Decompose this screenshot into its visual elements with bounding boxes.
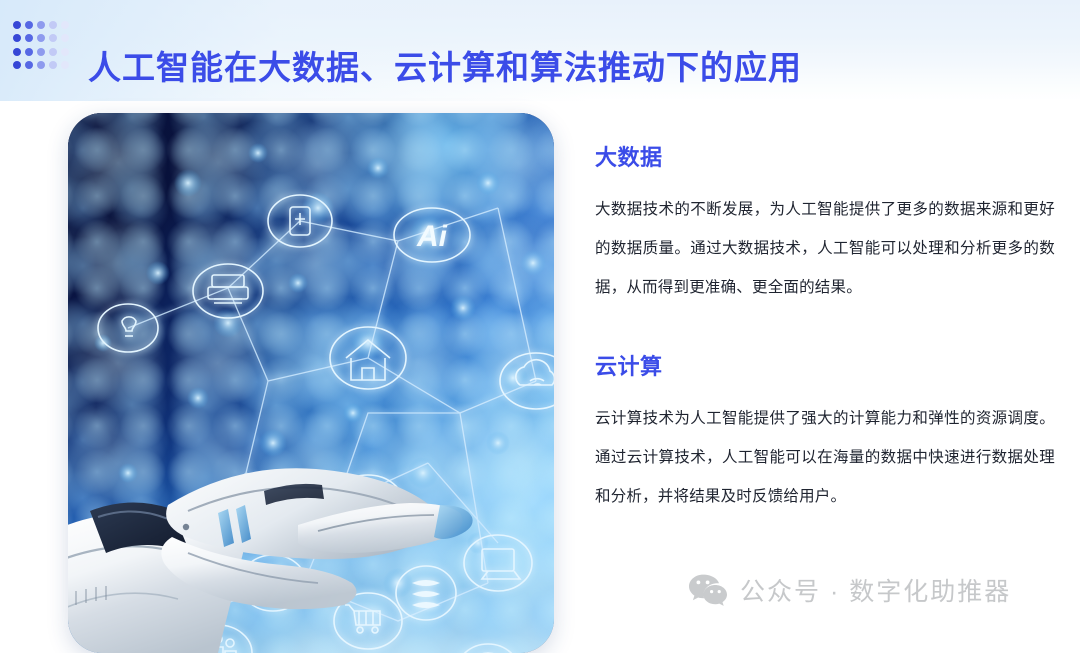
robot-hand-graphic (68, 113, 554, 653)
watermark: 公众号 · 数字化助推器 (688, 572, 1011, 608)
section-body: 大数据技术的不断发展，为人工智能提供了更多的数据来源和更好的数据质量。通过大数据… (595, 190, 1055, 307)
section-big-data: 大数据 大数据技术的不断发展，为人工智能提供了更多的数据来源和更好的数据质量。通… (595, 140, 1055, 307)
page-title: 人工智能在大数据、云计算和算法推动下的应用 (88, 45, 802, 91)
illustration-image: Ai 4.0 (68, 113, 554, 653)
section-cloud-computing: 云计算 云计算技术为人工智能提供了强大的计算能力和弹性的资源调度。通过云计算技术… (595, 349, 1055, 516)
section-title: 云计算 (595, 349, 1055, 381)
dot-grid-icon (12, 19, 70, 71)
wechat-icon (688, 573, 728, 607)
watermark-text: 公众号 · 数字化助推器 (740, 572, 1011, 608)
content-column: 大数据 大数据技术的不断发展，为人工智能提供了更多的数据来源和更好的数据质量。通… (595, 140, 1055, 516)
section-body: 云计算技术为人工智能提供了强大的计算能力和弹性的资源调度。通过云计算技术，人工智… (595, 399, 1055, 516)
page-header: 人工智能在大数据、云计算和算法推动下的应用 (0, 0, 1080, 101)
section-title: 大数据 (595, 140, 1055, 172)
